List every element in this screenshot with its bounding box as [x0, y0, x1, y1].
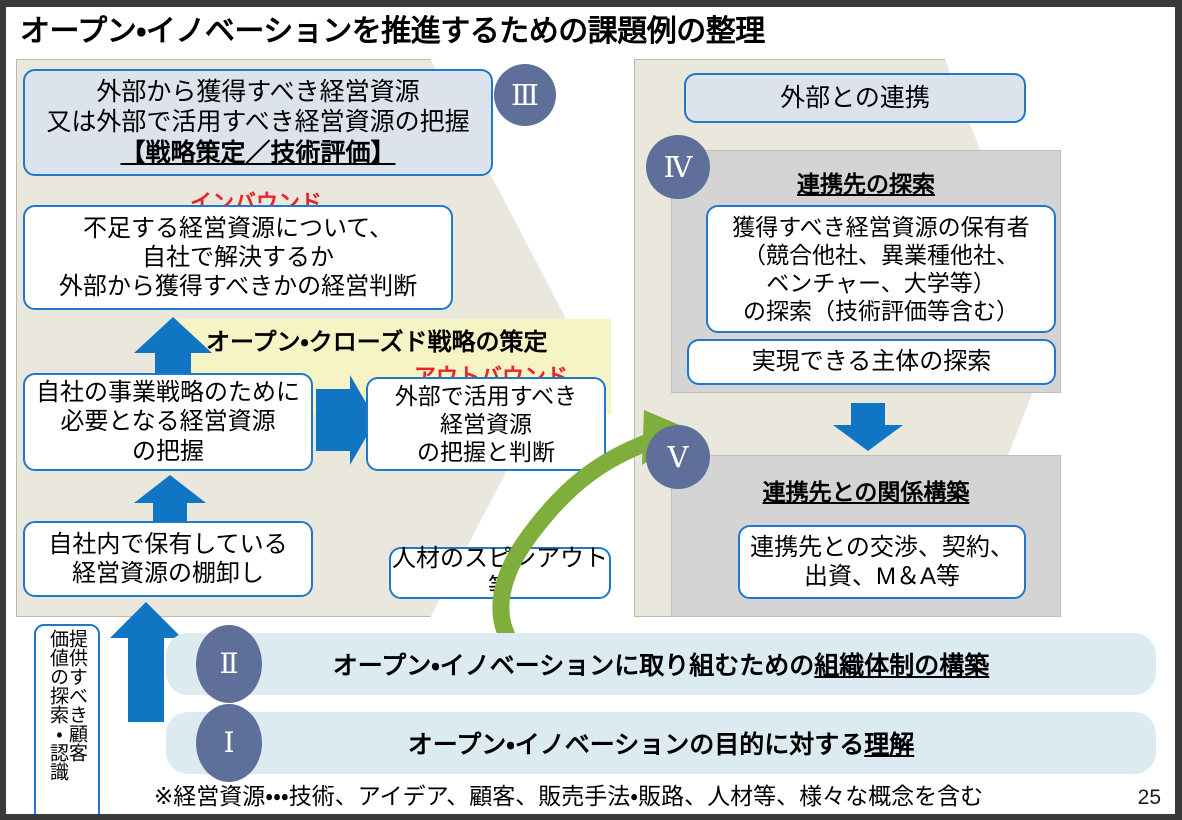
- vertical-column-left: 価値の探索・認識: [48, 629, 67, 781]
- box-line: 自社で解決するか: [142, 243, 334, 272]
- badge-ii: Ⅱ: [196, 625, 262, 703]
- bottom-bar-ii-text: オープン・イノベーションに取り組むための組織体制の構築: [333, 646, 990, 682]
- bar-text-underlined: 理解: [864, 731, 914, 759]
- box-line: 実現できる主体の探索: [752, 347, 992, 376]
- box-customer-value-exploration: 提供すべき顧客 価値の探索・認識: [34, 624, 100, 820]
- box-line: （競合他社、異業種他社、: [743, 241, 1019, 269]
- bottom-bar-i-text: オープン・イノベーションの目的に対する理解: [408, 725, 915, 761]
- bar-text-plain: オープン・イノベーションの目的に対する: [408, 731, 865, 759]
- box-partner-relationship: 連携先との交渉、契約、 出資、M＆A等: [738, 525, 1026, 599]
- bottom-bar-i: オープン・イノベーションの目的に対する理解: [166, 712, 1156, 774]
- page-title: オープン・イノベーションを推進するための課題例の整理: [20, 10, 1020, 54]
- bar-text-underlined: 組織体制の構築: [814, 652, 989, 680]
- box-line: 不足する経営資源について、: [83, 214, 393, 243]
- box-partner-search: 獲得すべき経営資源の保有者 （競合他社、異業種他社、 ベンチャー、大学等） の探…: [706, 205, 1056, 333]
- box-resource-inventory: 自社内で保有している 経営資源の棚卸し: [23, 521, 313, 597]
- arrow-base-tick-2: [128, 714, 164, 717]
- page-number: 25: [1138, 786, 1161, 810]
- box-line-emphasis: 【戦略策定／技術評価】: [120, 138, 395, 169]
- group-iv-heading: 連携先の探索: [686, 165, 1046, 199]
- box-inbound-decision: 不足する経営資源について、 自社で解決するか 外部から獲得すべきかの経営判断: [23, 205, 453, 310]
- box-line: 自社の事業戦略のために: [36, 378, 300, 407]
- arrow-base-tick-1: [128, 707, 164, 710]
- box-capable-entity-search: 実現できる主体の探索: [687, 339, 1056, 385]
- vertical-column-right: 提供すべき顧客: [67, 629, 86, 762]
- box-line: 自社内で保有している: [48, 530, 287, 559]
- box-line: の把握: [132, 437, 204, 466]
- box-line: 外部から獲得すべきかの経営判断: [59, 272, 417, 301]
- group-v-heading: 連携先との関係構築: [686, 473, 1046, 507]
- box-external-resources: 外部から獲得すべき経営資源 又は外部で活用すべき経営資源の把握 【戦略策定／技術…: [23, 69, 493, 176]
- arrow-down-to-group-v-icon: [833, 403, 903, 451]
- box-external-collaboration: 外部との連携: [684, 73, 1026, 123]
- box-line: 獲得すべき経営資源の保有者: [732, 213, 1029, 241]
- box-line: 経営資源の棚卸し: [72, 559, 264, 588]
- box-line: 連携先との交渉、契約、: [750, 533, 1014, 562]
- box-line: 外部から獲得すべき経営資源: [96, 77, 419, 108]
- box-line: 又は外部で活用すべき経営資源の把握: [46, 107, 469, 138]
- box-line: 必要となる経営資源: [60, 407, 275, 436]
- box-internal-resources: 自社の事業戦略のために 必要となる経営資源 の把握: [23, 373, 313, 471]
- box-line: の探索（技術評価等含む）: [743, 297, 1019, 325]
- bottom-bar-ii: オープン・イノベーションに取り組むための組織体制の構築: [166, 633, 1156, 695]
- box-line: 外部との連携: [780, 83, 930, 114]
- bar-text-plain: オープン・イノベーションに取り組むための: [333, 652, 815, 680]
- box-line: ベンチャー、大学等）: [766, 269, 996, 297]
- badge-iii: Ⅲ: [494, 64, 556, 126]
- box-line: 出資、M＆A等: [804, 562, 960, 591]
- badge-i: Ⅰ: [196, 704, 262, 782]
- arrow-up-to-internal-icon: [134, 475, 206, 525]
- slide-canvas: オープン・イノベーションを推進するための課題例の整理 Ⅲ 外部から獲得すべき経営…: [0, 0, 1182, 820]
- footnote-text: ※経営資源・・・技術、アイデア、顧客、販売手法・販路、人材等、様々な概念を含む: [154, 777, 1094, 811]
